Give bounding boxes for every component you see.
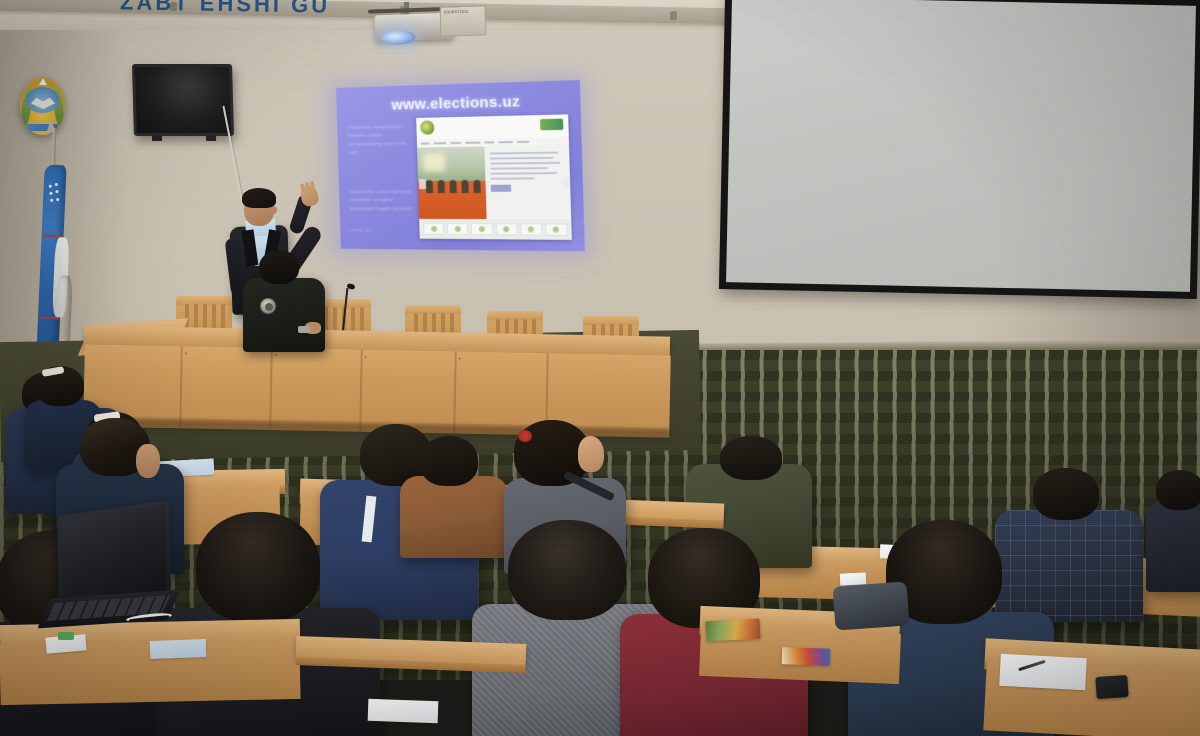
shoulder-badge-icon xyxy=(260,298,276,314)
student-head xyxy=(1156,470,1200,510)
projection-screen xyxy=(719,0,1200,299)
emblem-star-icon xyxy=(39,78,47,85)
official-head xyxy=(259,250,299,284)
carousel-prev-icon xyxy=(419,179,426,189)
website-main xyxy=(417,145,571,219)
projector-control-box[interactable]: control box xyxy=(440,5,487,36)
slide-footnote: manba: CEC xyxy=(350,227,372,232)
presenter-ear xyxy=(271,206,277,214)
website-tile-row xyxy=(419,219,572,240)
red-hair-tie-icon xyxy=(518,430,532,442)
student-head xyxy=(720,436,782,480)
smartphone[interactable] xyxy=(1095,675,1128,699)
flag-stars-icon xyxy=(47,183,64,210)
backpack xyxy=(833,581,910,630)
student-head xyxy=(508,520,626,620)
website-hero-photo xyxy=(417,147,487,220)
website-header-title xyxy=(460,119,527,126)
slide-text-block-1: Oʻzbekiston Respublikasi Markaziy saylov… xyxy=(347,123,411,157)
leaf-logo-icon xyxy=(420,121,434,135)
emblem-sky xyxy=(26,87,59,113)
photo-highlight xyxy=(423,153,445,171)
seated-official xyxy=(243,250,329,350)
paper-sheet-blue xyxy=(150,639,207,659)
ceiling-banner-text: ZABT EHSHI GU xyxy=(120,0,331,19)
slide-title: www.elections.uz xyxy=(336,91,580,115)
woman-face xyxy=(578,436,604,472)
student-head xyxy=(420,436,478,486)
website-cta-button xyxy=(491,185,512,192)
laptop[interactable] xyxy=(40,508,170,628)
tv-screen xyxy=(135,67,231,133)
projected-slide: www.elections.uz Oʻzbekiston Respublikas… xyxy=(336,80,585,251)
state-emblem-uzbekistan xyxy=(20,77,65,135)
official-jacket xyxy=(243,278,325,352)
lecture-hall-photo: ZABT EHSHI GU control box www.elections.… xyxy=(0,0,1200,736)
wall-tv-monitor[interactable] xyxy=(132,64,234,136)
student-head xyxy=(1033,468,1099,520)
student-head xyxy=(196,512,320,622)
projector-box-label: control box xyxy=(441,6,485,18)
student-edge-right xyxy=(1146,470,1200,590)
brochure-multicolor xyxy=(782,647,831,666)
green-marker xyxy=(58,632,74,640)
website-screenshot xyxy=(416,114,572,240)
jacket xyxy=(1146,500,1200,592)
projection-screen-surface xyxy=(726,0,1196,292)
cec-emblem-icon xyxy=(540,119,563,131)
website-header xyxy=(416,114,569,139)
wristwatch-icon xyxy=(298,326,310,333)
website-text-column xyxy=(484,145,571,219)
carousel-next-icon xyxy=(562,178,570,188)
student-face xyxy=(136,444,160,478)
presenter-hair xyxy=(242,188,276,208)
brochure-green-orange xyxy=(706,619,761,642)
slide-text-block-2: Saylovchilar uchun maʼlumot, nomzodlar v… xyxy=(349,188,413,213)
paper-sheet xyxy=(368,699,439,723)
